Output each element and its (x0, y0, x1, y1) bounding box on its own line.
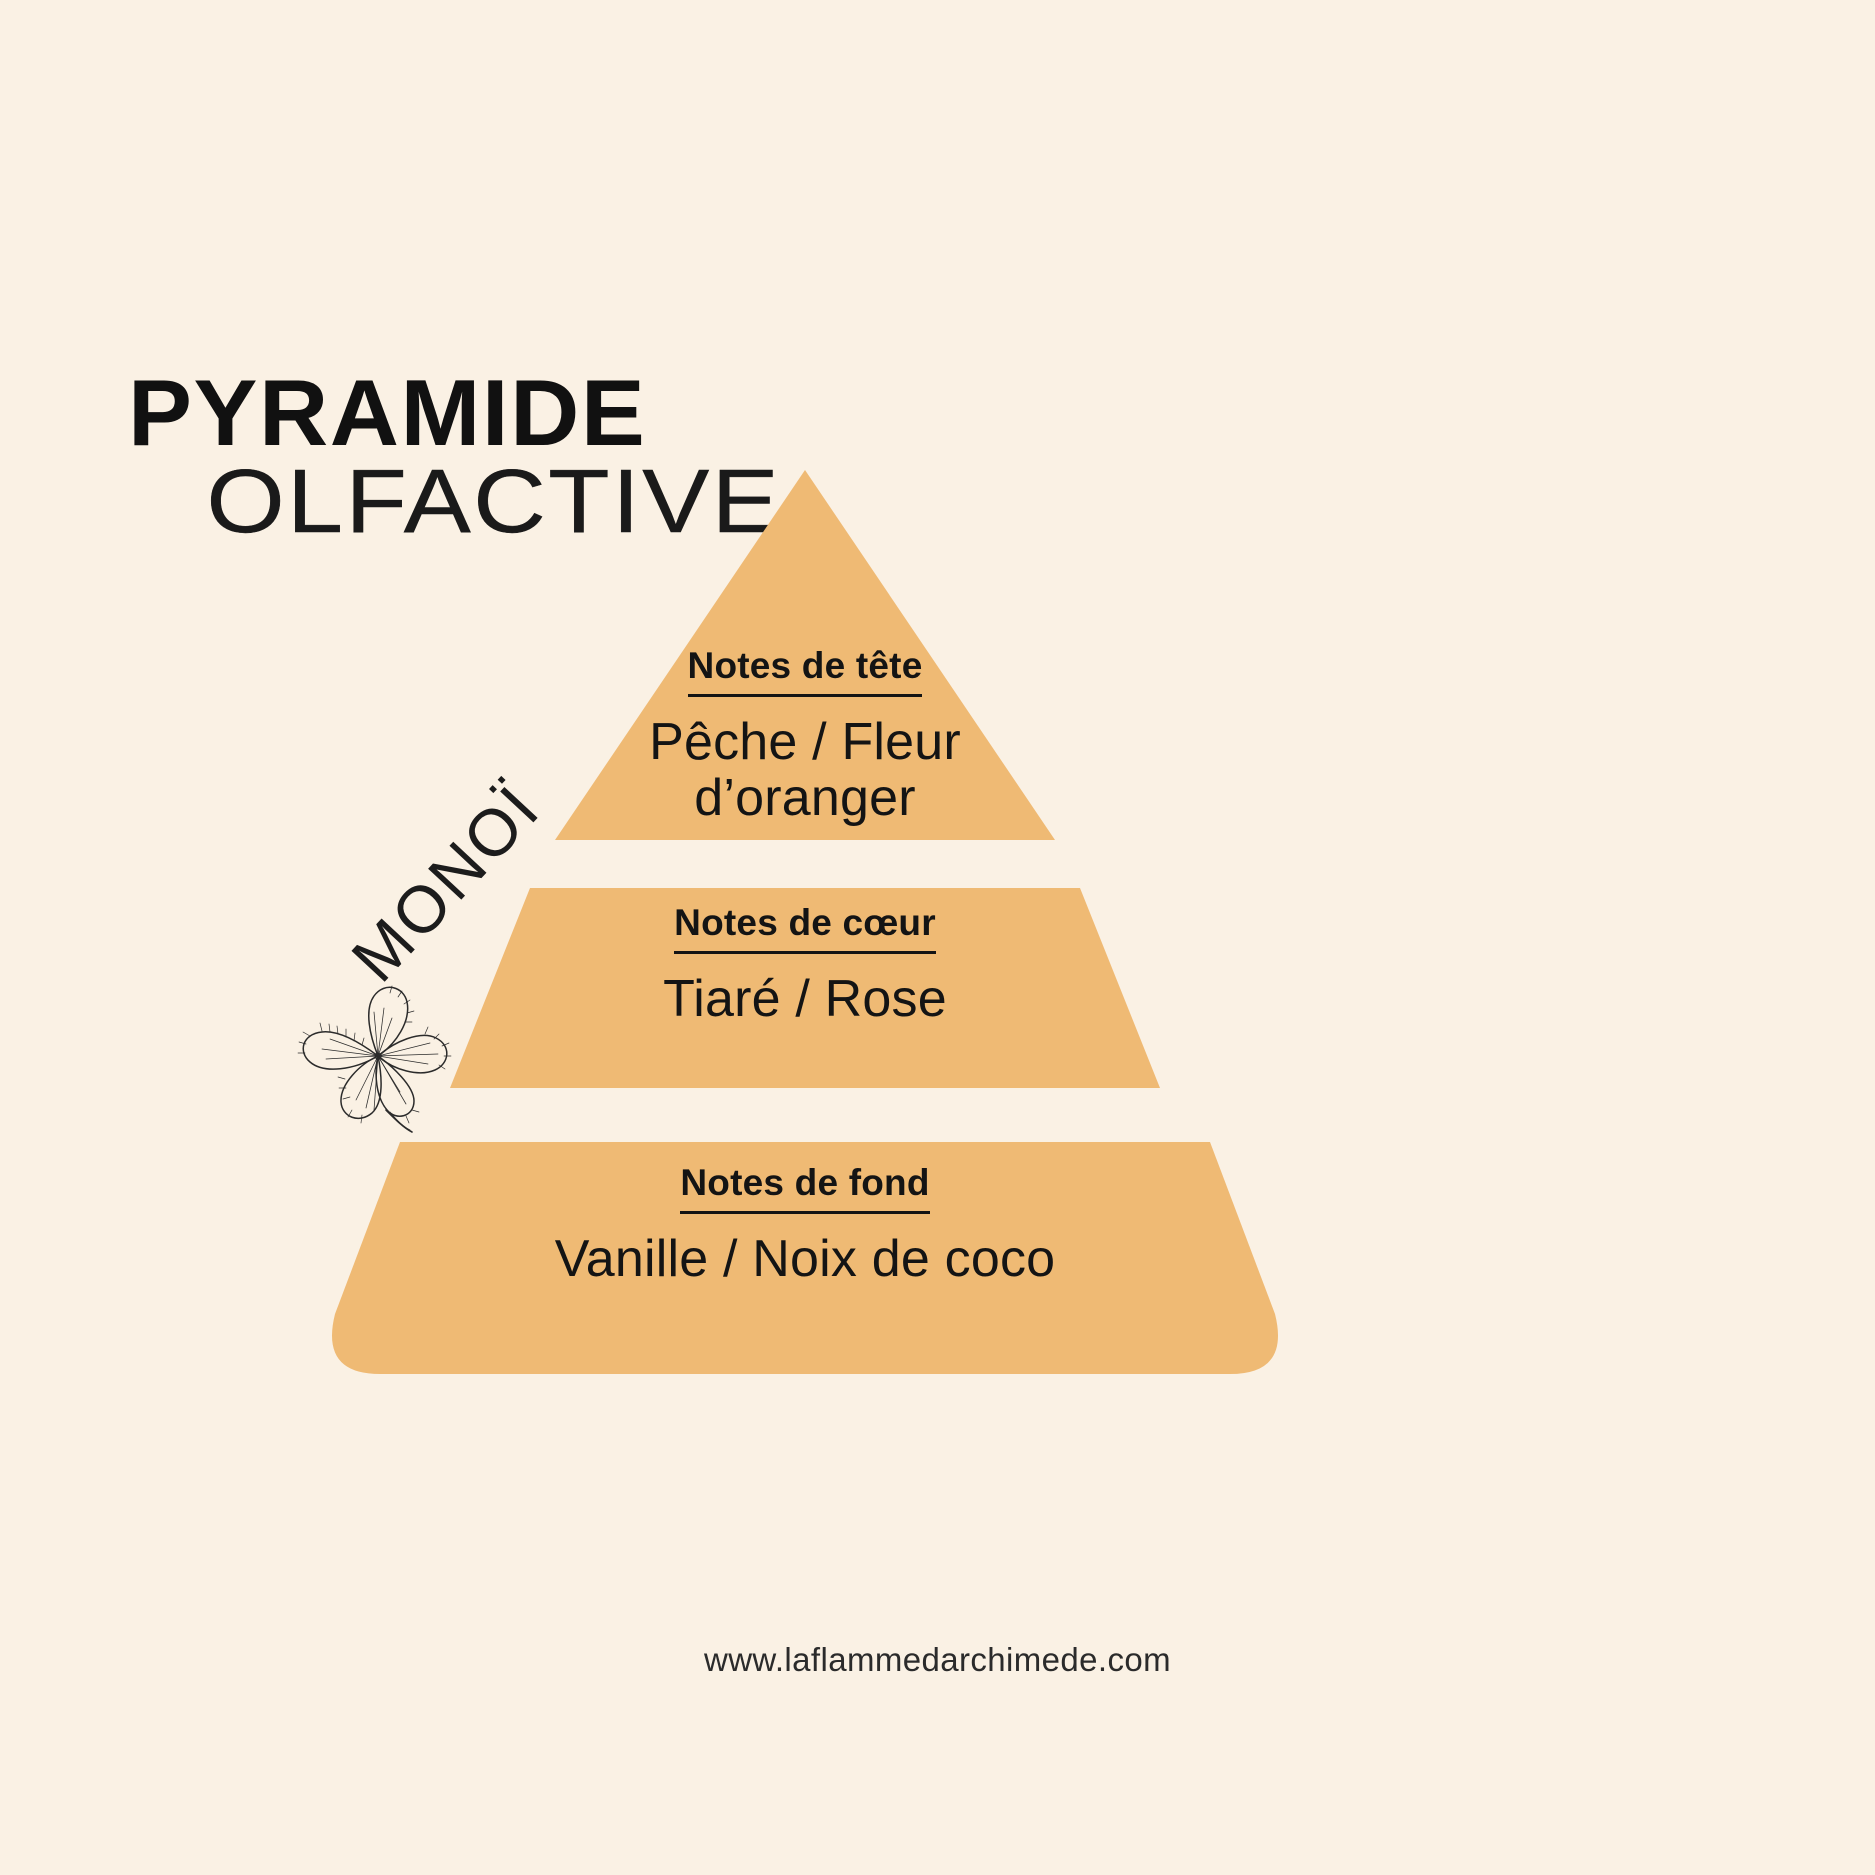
frangipani-flower-sketch-icon (292, 960, 462, 1135)
pyramid-level-bottom-notes: Vanille / Noix de coco (315, 1231, 1295, 1287)
olfactive-pyramid-diagram: Notes de tête Pêche / Fleur d’oranger No… (315, 470, 1295, 1380)
pyramid-level-middle-notes: Tiaré / Rose (315, 971, 1295, 1027)
pyramid-level-top: Notes de tête Pêche / Fleur d’oranger (315, 470, 1295, 865)
pyramid-level-bottom-heading: Notes de fond (680, 1162, 929, 1214)
pyramid-level-top-heading: Notes de tête (688, 645, 923, 697)
poster-canvas: PYRAMIDE OLFACTIVE Notes de tête Pêche /… (0, 0, 1875, 1875)
pyramid-level-bottom-text: Notes de fond Vanille / Noix de coco (315, 1162, 1295, 1287)
website-url[interactable]: www.laflammedarchimede.com (0, 1641, 1875, 1679)
title-line-pyramide: PYRAMIDE (128, 368, 903, 457)
pyramid-level-top-text: Notes de tête Pêche / Fleur d’oranger (315, 645, 1295, 826)
pyramid-level-middle-heading: Notes de cœur (674, 902, 936, 954)
